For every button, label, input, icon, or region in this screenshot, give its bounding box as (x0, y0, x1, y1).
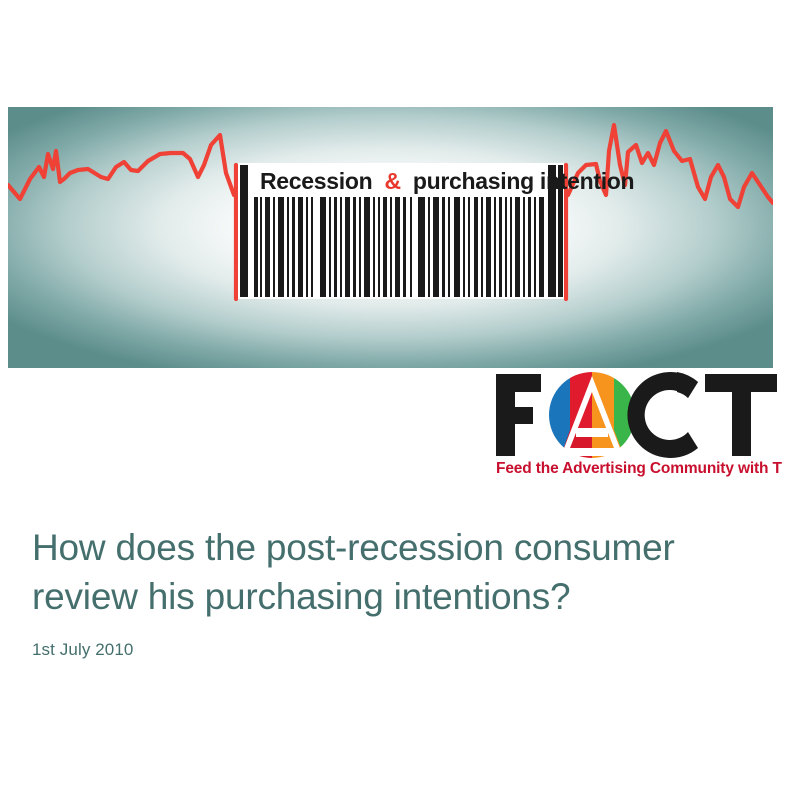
barcode-label-word-2: purchasing intention (413, 168, 634, 194)
logo-tagline: Feed the Advertising Community with Tren… (496, 460, 782, 477)
logo-letter-c (627, 372, 698, 458)
barcode-label-ampersand: & (384, 168, 400, 194)
title-block: How does the post-recession consumer rev… (32, 524, 762, 660)
slide-date: 1st July 2010 (32, 640, 762, 660)
fact-logo-artwork: Feed the Advertising Community with Tren… (492, 368, 782, 478)
hero-banner: Recession & purchasing intention (8, 107, 773, 368)
logo-letter-t (705, 374, 777, 456)
barcode-label-word-1: Recession (260, 168, 372, 194)
logo-letter-f (496, 374, 541, 456)
hero-banner-artwork: Recession & purchasing intention (8, 107, 773, 368)
page-title: How does the post-recession consumer rev… (32, 524, 762, 622)
barcode-label: Recession & purchasing intention (260, 168, 634, 194)
logo-letter-a-wheel (544, 368, 642, 463)
fact-logo: Feed the Advertising Community with Tren… (492, 368, 782, 478)
